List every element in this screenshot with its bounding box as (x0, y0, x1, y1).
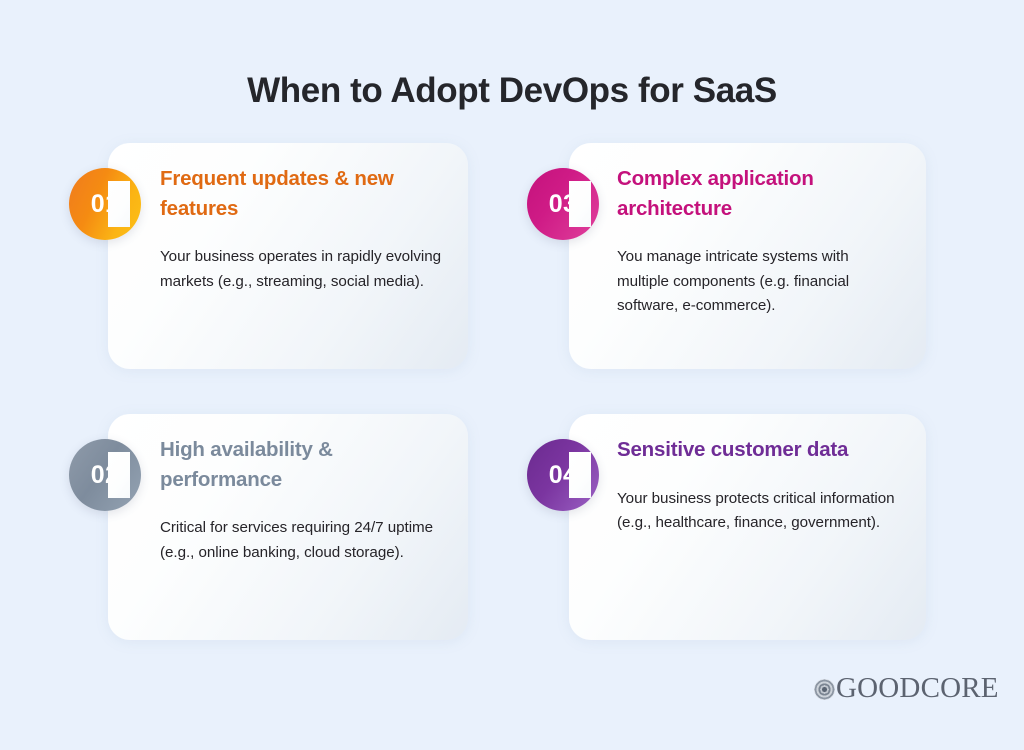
card-01-content: Frequent updates & new features Your bus… (160, 164, 446, 294)
card-04-body: Your business protects critical informat… (617, 487, 904, 536)
card-03-heading: Complex application architecture (617, 164, 904, 223)
card-03-badge-notch (569, 181, 591, 227)
card-02-heading: High availability & performance (160, 435, 446, 494)
card-01-body: Your business operates in rapidly evolvi… (160, 245, 446, 294)
card-03: Complex application architecture You man… (569, 143, 926, 369)
card-02-badge-notch (108, 452, 130, 498)
card-02-number-badge: 02 (69, 439, 141, 511)
card-01-heading: Frequent updates & new features (160, 164, 446, 223)
card-03-body: You manage intricate systems with multip… (617, 245, 904, 318)
card-01: Frequent updates & new features Your bus… (108, 143, 468, 369)
page-title: When to Adopt DevOps for SaaS (0, 71, 1024, 111)
card-02-body: Critical for services requiring 24/7 upt… (160, 516, 446, 565)
card-01-number-badge: 01 (69, 168, 141, 240)
infographic-canvas: When to Adopt DevOps for SaaS Frequent u… (0, 0, 1024, 750)
card-04-badge-notch (569, 452, 591, 498)
logo-wordmark: GOODCORE (836, 674, 999, 703)
goodcore-logo: GOODCORE (814, 674, 999, 703)
card-02-content: High availability & performance Critical… (160, 435, 446, 565)
card-02: High availability & performance Critical… (108, 414, 468, 640)
card-03-content: Complex application architecture You man… (617, 164, 904, 318)
card-04: Sensitive customer data Your business pr… (569, 414, 926, 640)
card-01-badge-notch (108, 181, 130, 227)
card-04-content: Sensitive customer data Your business pr… (617, 435, 904, 535)
concentric-circles-icon (814, 679, 835, 700)
card-04-heading: Sensitive customer data (617, 435, 904, 465)
